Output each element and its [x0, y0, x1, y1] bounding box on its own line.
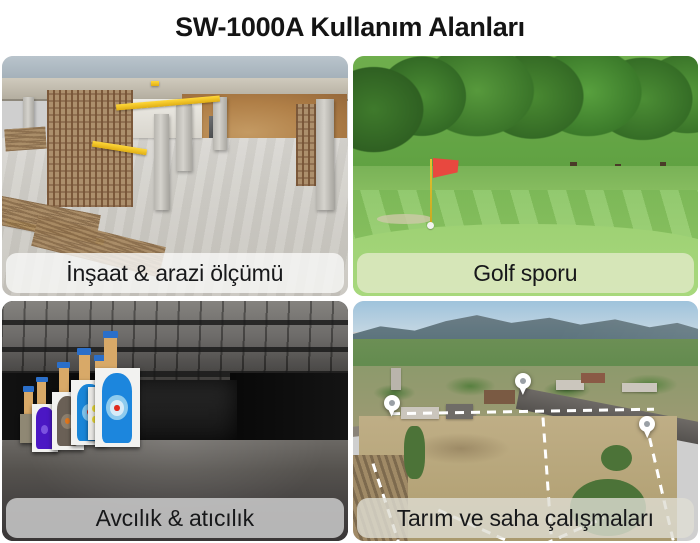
page-title: SW-1000A Kullanım Alanları	[0, 10, 700, 44]
tile-caption-construction: İnşaat & arazi ölçümü	[6, 253, 344, 293]
map-pin-marker-left[interactable]	[384, 395, 400, 417]
use-case-tile-golf[interactable]: Golf sporu	[353, 56, 699, 296]
ceiling-beam-1	[2, 320, 348, 325]
target-paper-6	[95, 368, 140, 447]
golf-ball	[427, 222, 434, 229]
concrete-column-4	[316, 99, 333, 209]
yellow-marker-wall	[151, 81, 159, 86]
map-pin-marker-right[interactable]	[639, 416, 655, 438]
tree-cluster-3	[404, 426, 425, 479]
ceiling-beam-2	[2, 347, 348, 353]
water-tower	[391, 368, 401, 390]
map-pin-marker-center[interactable]	[515, 373, 531, 395]
rebar-bundle-ground	[5, 127, 48, 151]
target-clip-2	[36, 377, 48, 383]
tile-caption-golf: Golf sporu	[357, 253, 695, 293]
target-ring-center-blue-large	[114, 405, 119, 411]
concrete-column-2	[176, 104, 192, 171]
use-case-grid: İnşaat & arazi ölçümü Golf sporu	[2, 56, 698, 541]
target-clip-1	[23, 386, 34, 392]
building-3-roof	[484, 390, 515, 404]
use-case-tile-construction[interactable]: İnşaat & arazi ölçümü	[2, 56, 348, 296]
concrete-column-3	[213, 97, 227, 150]
target-clip-4	[77, 348, 91, 355]
concrete-column-1	[154, 114, 169, 210]
use-case-tile-survey[interactable]: Tarım ve saha çalışmaları	[353, 301, 699, 541]
tile-caption-shooting: Avcılık & atıcılık	[6, 498, 344, 538]
product-use-cases-page: SW-1000A Kullanım Alanları	[0, 0, 700, 543]
tile-caption-survey: Tarım ve saha çalışmaları	[357, 498, 695, 538]
concrete-column-5	[23, 97, 35, 131]
flagstick-pole	[430, 159, 432, 224]
target-clip-3	[57, 362, 70, 368]
building-6	[622, 383, 657, 393]
target-clip-6	[103, 331, 118, 338]
sand-patch	[377, 214, 432, 224]
use-case-tile-shooting[interactable]: Avcılık & atıcılık	[2, 301, 348, 541]
building-5-roof	[581, 373, 605, 383]
